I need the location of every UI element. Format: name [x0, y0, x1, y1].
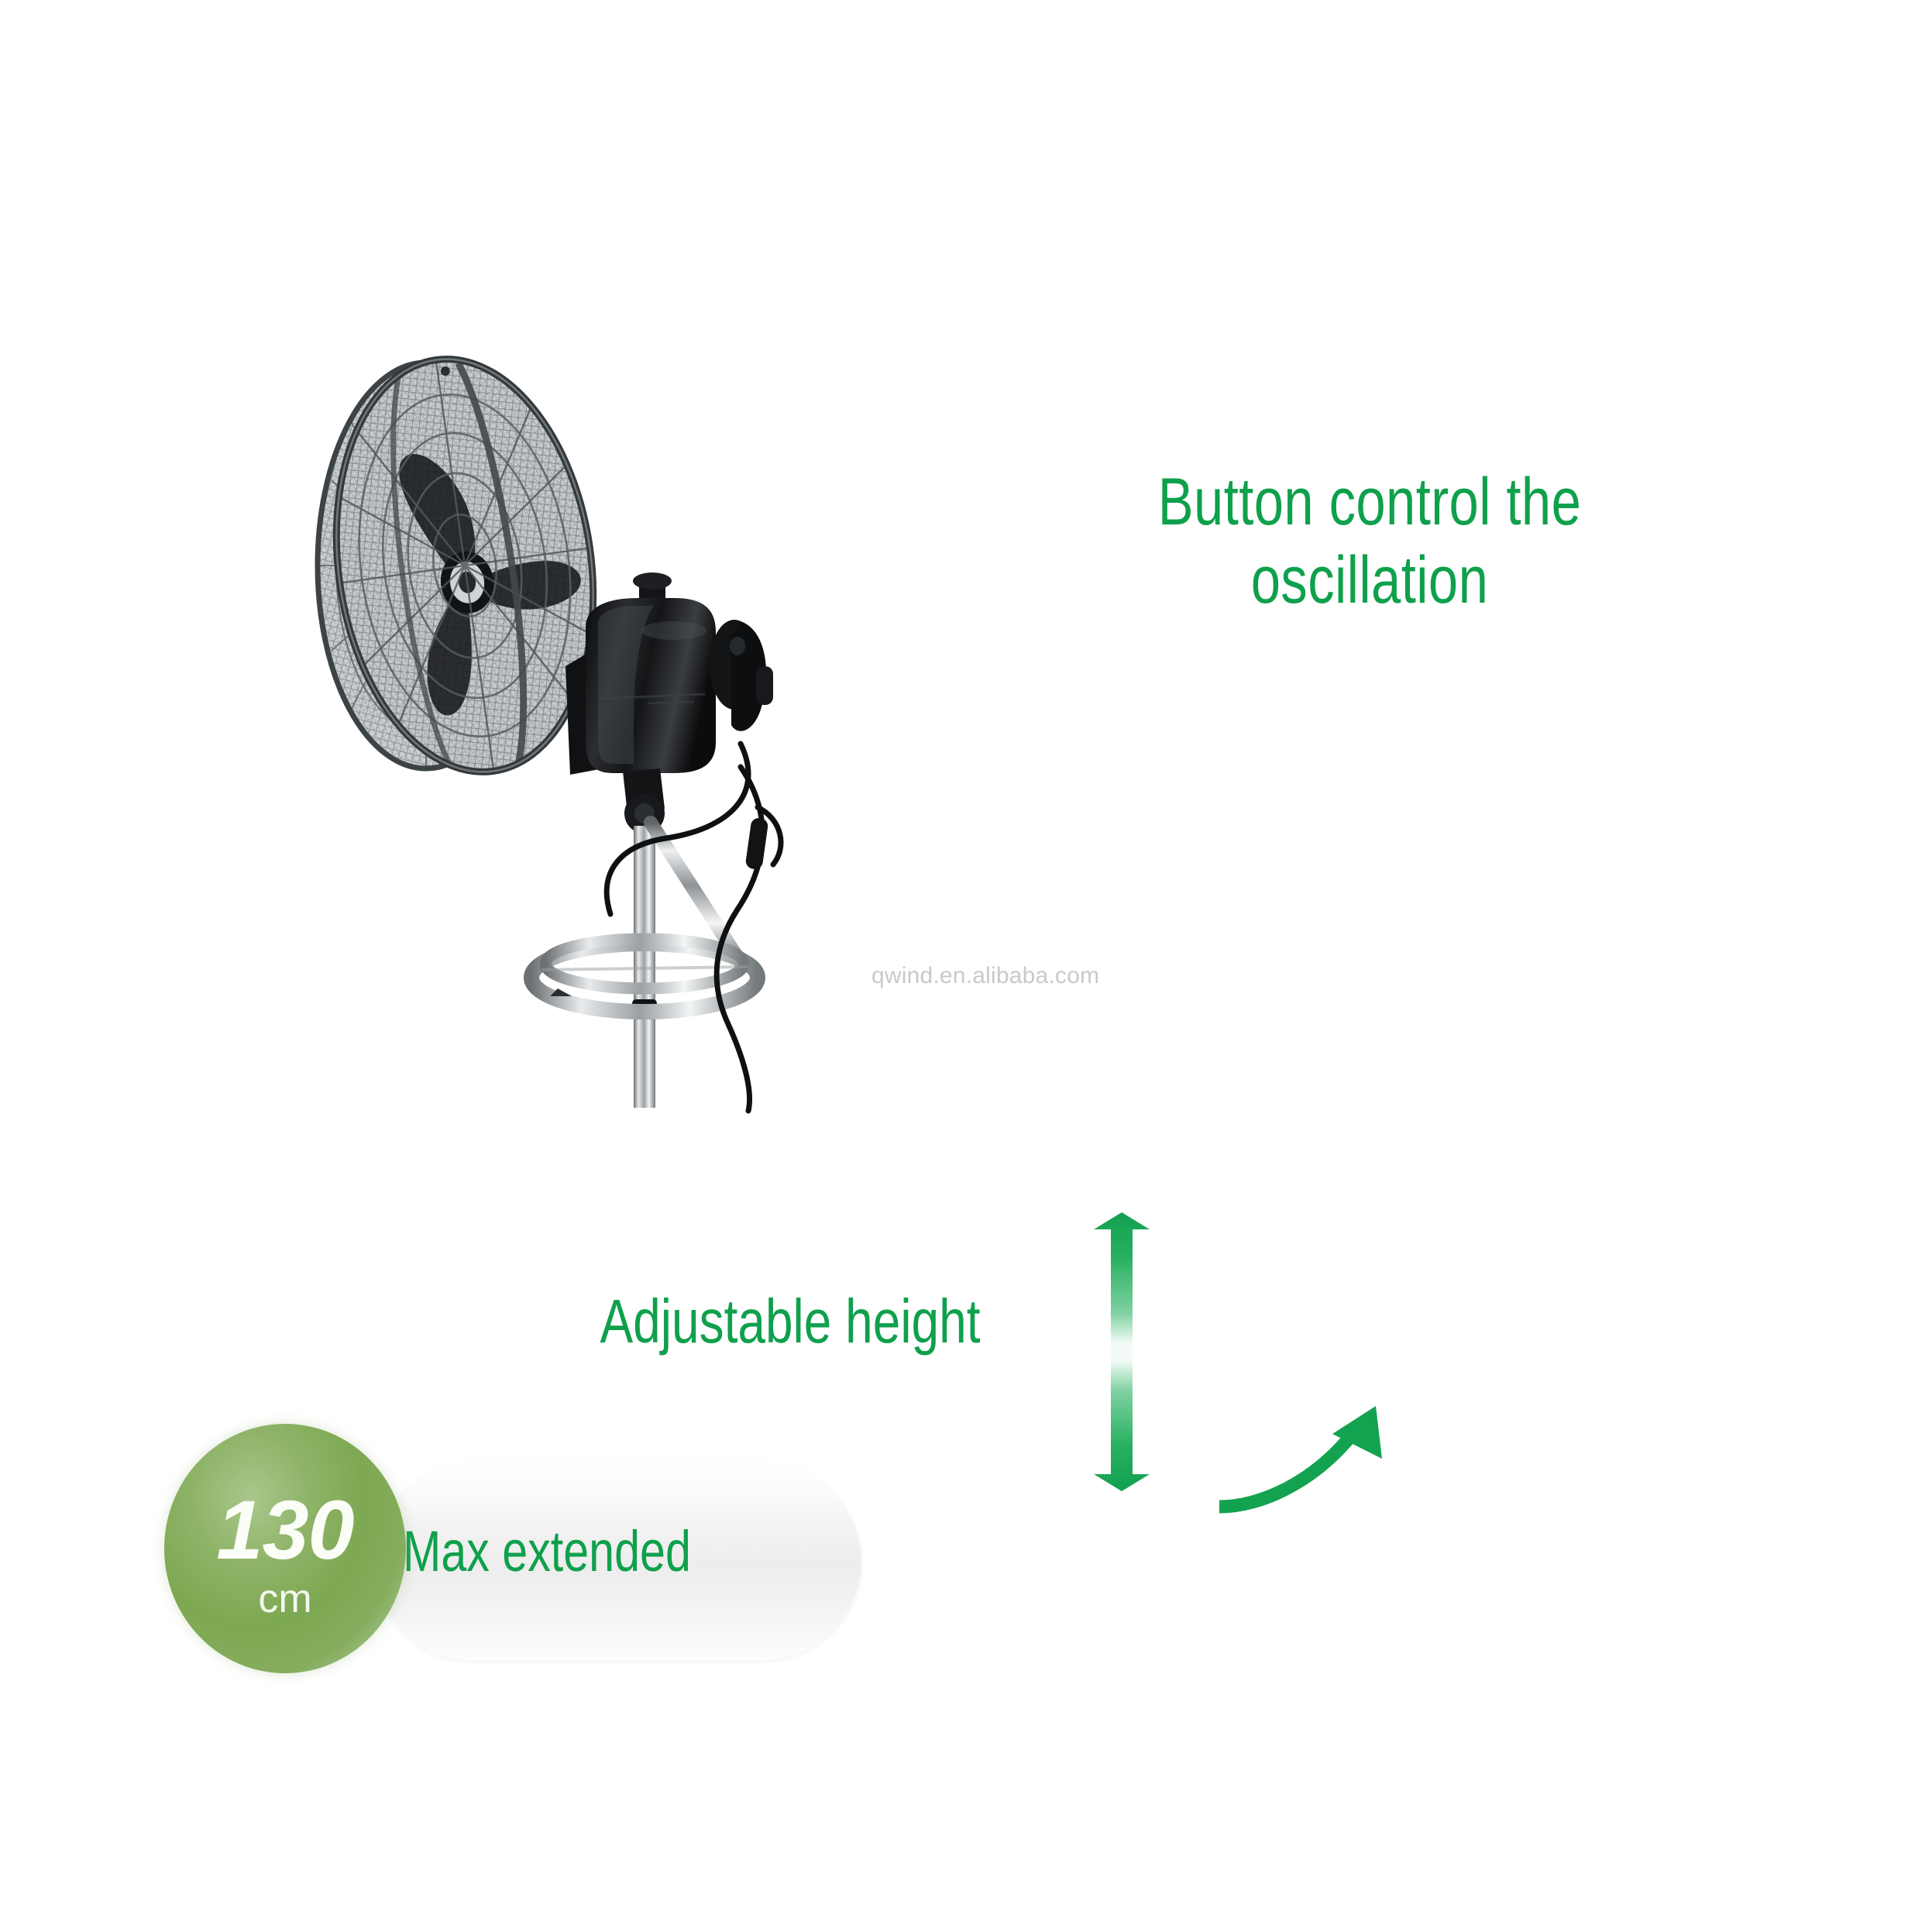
spec-badge-value: 130 — [164, 1481, 406, 1578]
watermark-text: qwind.en.alibaba.com — [871, 963, 1099, 989]
cord-clip — [745, 817, 769, 870]
oscillation-button — [710, 620, 773, 731]
product-feature-page: Button control the oscillation qwind.en.… — [0, 0, 1932, 1932]
max-extended-spec: Max extended 130 cm — [155, 1418, 914, 1681]
adjustable-height-label: Adjustable height — [555, 1286, 1026, 1357]
spec-badge-circle: 130 cm — [164, 1424, 406, 1673]
double-headed-vertical-arrow-icon — [1083, 1212, 1160, 1491]
spec-pill-label: Max extended — [403, 1518, 750, 1584]
spec-badge-unit: cm — [164, 1576, 406, 1622]
oscillation-heading: Button control the oscillation — [1060, 463, 1679, 621]
pedestal-fan-photo — [310, 333, 806, 1116]
curved-sweep-arrow-icon — [1216, 1398, 1402, 1522]
